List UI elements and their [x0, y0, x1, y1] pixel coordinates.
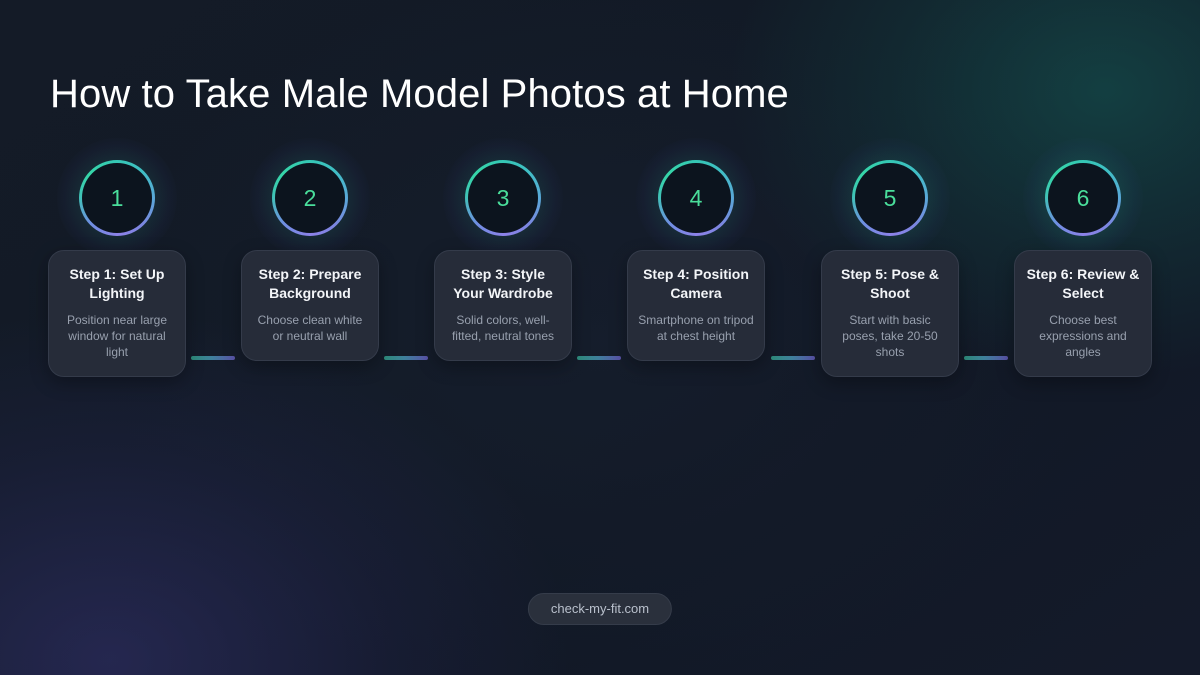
footer-site-badge[interactable]: check-my-fit.com: [528, 593, 672, 625]
step-card-title-3: Step 3: Style Your Wardrobe: [445, 265, 561, 303]
step-flow: 1 Step 1: Set Up Lighting Position near …: [0, 160, 1200, 410]
step-card-title-5: Step 5: Pose & Shoot: [832, 265, 948, 303]
connector-4-5: [771, 356, 815, 360]
page-title: How to Take Male Model Photos at Home: [50, 68, 789, 120]
step-item-3[interactable]: 3 Step 3: Style Your Wardrobe Solid colo…: [423, 160, 583, 236]
ring-inner: 4: [661, 163, 731, 233]
connector-5-6: [964, 356, 1008, 360]
gradient-ring-icon: 4: [658, 160, 734, 236]
step-card-desc-6: Choose best expressions and angles: [1025, 312, 1141, 360]
step-card-desc-2: Choose clean white or neutral wall: [252, 312, 368, 344]
connector-1-2: [191, 356, 235, 360]
infographic-canvas: How to Take Male Model Photos at Home 1 …: [0, 0, 1200, 675]
ring-inner: 5: [855, 163, 925, 233]
step-card-title-2: Step 2: Prepare Background: [252, 265, 368, 303]
step-number-2: 2: [304, 187, 317, 210]
step-card-2[interactable]: Step 2: Prepare Background Choose clean …: [241, 250, 379, 361]
connector-2-3: [384, 356, 428, 360]
step-circle-5: 5: [852, 160, 928, 236]
step-card-6[interactable]: Step 6: Review & Select Choose best expr…: [1014, 250, 1152, 377]
step-number-6: 6: [1077, 187, 1090, 210]
gradient-ring-icon: 5: [852, 160, 928, 236]
step-number-5: 5: [884, 187, 897, 210]
gradient-ring-icon: 3: [465, 160, 541, 236]
step-number-1: 1: [111, 187, 124, 210]
step-circle-2: 2: [272, 160, 348, 236]
step-card-desc-1: Position near large window for natural l…: [59, 312, 175, 360]
step-circle-6: 6: [1045, 160, 1121, 236]
step-item-2[interactable]: 2 Step 2: Prepare Background Choose clea…: [230, 160, 390, 236]
gradient-ring-icon: 2: [272, 160, 348, 236]
step-number-4: 4: [690, 187, 703, 210]
step-circle-4: 4: [658, 160, 734, 236]
step-card-title-4: Step 4: Position Camera: [638, 265, 754, 303]
step-item-1[interactable]: 1 Step 1: Set Up Lighting Position near …: [37, 160, 197, 236]
gradient-ring-icon: 6: [1045, 160, 1121, 236]
step-item-4[interactable]: 4 Step 4: Position Camera Smartphone on …: [616, 160, 776, 236]
step-card-title-6: Step 6: Review & Select: [1025, 265, 1141, 303]
step-card-desc-3: Solid colors, well-fitted, neutral tones: [445, 312, 561, 344]
step-card-desc-5: Start with basic poses, take 20-50 shots: [832, 312, 948, 360]
ring-inner: 1: [82, 163, 152, 233]
step-card-4[interactable]: Step 4: Position Camera Smartphone on tr…: [627, 250, 765, 361]
step-card-desc-4: Smartphone on tripod at chest height: [638, 312, 754, 344]
step-card-5[interactable]: Step 5: Pose & Shoot Start with basic po…: [821, 250, 959, 377]
step-item-6[interactable]: 6 Step 6: Review & Select Choose best ex…: [1003, 160, 1163, 236]
step-card-3[interactable]: Step 3: Style Your Wardrobe Solid colors…: [434, 250, 572, 361]
gradient-ring-icon: 1: [79, 160, 155, 236]
step-card-title-1: Step 1: Set Up Lighting: [59, 265, 175, 303]
step-circle-3: 3: [465, 160, 541, 236]
step-number-3: 3: [497, 187, 510, 210]
ring-inner: 2: [275, 163, 345, 233]
ring-inner: 6: [1048, 163, 1118, 233]
ring-inner: 3: [468, 163, 538, 233]
step-card-1[interactable]: Step 1: Set Up Lighting Position near la…: [48, 250, 186, 377]
step-circle-1: 1: [79, 160, 155, 236]
connector-3-4: [577, 356, 621, 360]
step-item-5[interactable]: 5 Step 5: Pose & Shoot Start with basic …: [810, 160, 970, 236]
